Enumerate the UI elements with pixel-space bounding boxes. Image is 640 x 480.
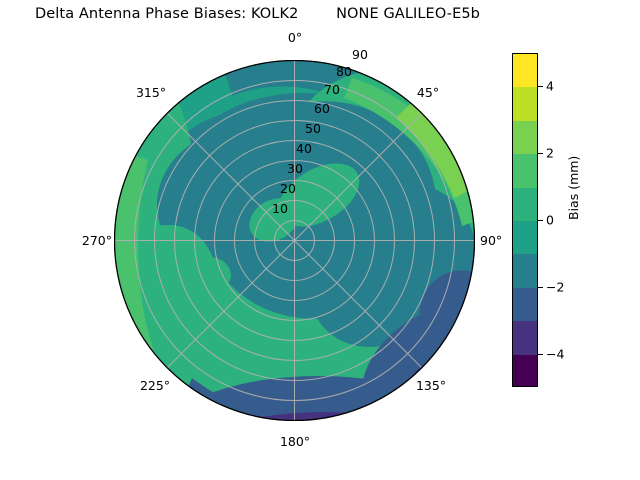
colorbar-segment	[513, 188, 537, 221]
colorbar-segment	[513, 355, 537, 387]
r-tick-90: 90	[352, 47, 368, 62]
colorbar-segment	[513, 254, 537, 287]
colorbar-segment	[513, 54, 537, 87]
r-tick-80: 80	[336, 64, 352, 79]
colorbar-tick-label: −4	[546, 346, 564, 361]
colorbar-tick	[538, 354, 543, 355]
colorbar-segment	[513, 154, 537, 187]
colorbar-axis-label: Bias (mm)	[566, 156, 581, 220]
colorbar-tick	[538, 220, 543, 221]
colorbar-segment	[513, 221, 537, 254]
polar-axes: 10 20 30 40 50 60 70 80 90	[114, 60, 475, 421]
figure-title: Delta Antenna Phase Biases: KOLK2 NONE G…	[35, 6, 605, 28]
colorbar-tick-label: −2	[546, 279, 564, 294]
r-tick-60: 60	[314, 101, 330, 116]
colorbar-tick	[538, 287, 543, 288]
r-tick-70: 70	[324, 82, 340, 97]
r-tick-20: 20	[280, 181, 296, 196]
theta-tick-135: 135°	[404, 378, 458, 393]
r-tick-30: 30	[287, 161, 303, 176]
r-tick-50: 50	[305, 121, 321, 136]
polar-plot-svg	[114, 60, 475, 421]
polar-grid	[115, 61, 475, 421]
theta-tick-45: 45°	[406, 85, 450, 100]
colorbar-tick	[538, 153, 543, 154]
colorbar-tick	[538, 86, 543, 87]
colorbar-segment	[513, 87, 537, 120]
r-tick-40: 40	[296, 141, 312, 156]
colorbar-gradient	[512, 53, 538, 387]
r-tick-10: 10	[272, 201, 288, 216]
colorbar: −4−2024	[512, 53, 538, 387]
colorbar-segment	[513, 288, 537, 321]
colorbar-segment	[513, 121, 537, 154]
colorbar-tick-label: 2	[546, 146, 554, 161]
theta-tick-0: 0°	[275, 30, 315, 45]
figure-canvas: Delta Antenna Phase Biases: KOLK2 NONE G…	[0, 0, 640, 480]
theta-tick-270: 270°	[58, 233, 112, 248]
colorbar-segment	[513, 321, 537, 354]
colorbar-tick-label: 0	[546, 213, 554, 228]
colorbar-tick-label: 4	[546, 79, 554, 94]
theta-tick-90: 90°	[480, 233, 510, 248]
theta-tick-225: 225°	[128, 378, 182, 393]
theta-tick-315: 315°	[124, 85, 178, 100]
theta-tick-180: 180°	[268, 434, 322, 449]
